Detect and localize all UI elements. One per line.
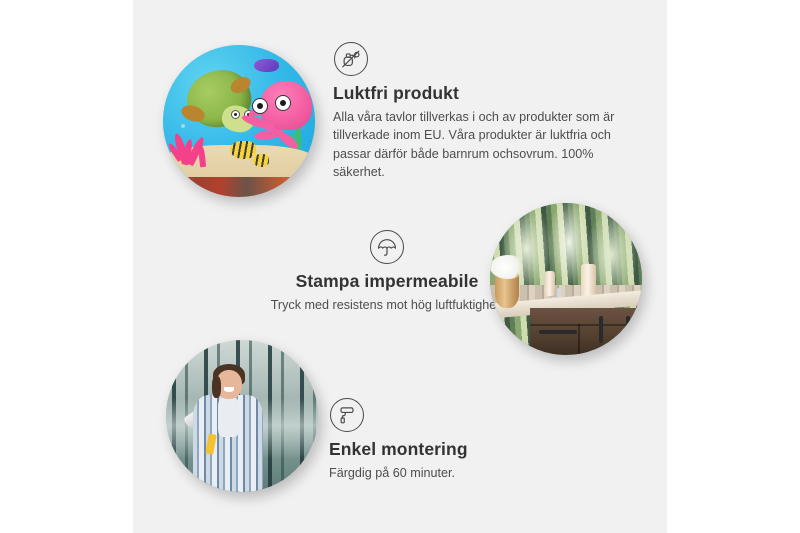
feature-description: Färgdig på 60 minuter.: [329, 464, 589, 482]
feature-title: Enkel montering: [329, 439, 589, 460]
feature-title: Luktfri produkt: [333, 83, 625, 104]
undersea-cartoon-photo: [163, 45, 315, 197]
painter-forest-photo: [166, 340, 318, 492]
product-feature-infographic: Luktfri produkt Alla våra tavlor tillver…: [0, 0, 800, 533]
no-fragrance-icon: [334, 42, 368, 76]
paint-roller-icon: [330, 398, 364, 432]
feature-block-easy-mounting: Enkel montering Färgdig på 60 minuter.: [329, 398, 589, 482]
bathroom-vanity-photo: [490, 203, 642, 355]
umbrella-icon: [370, 230, 404, 264]
feature-description: Alla våra tavlor tillverkas i och av pro…: [333, 108, 625, 182]
feature-block-odourless: Luktfri produkt Alla våra tavlor tillver…: [333, 42, 625, 182]
content-panel: Luktfri produkt Alla våra tavlor tillver…: [133, 0, 667, 533]
